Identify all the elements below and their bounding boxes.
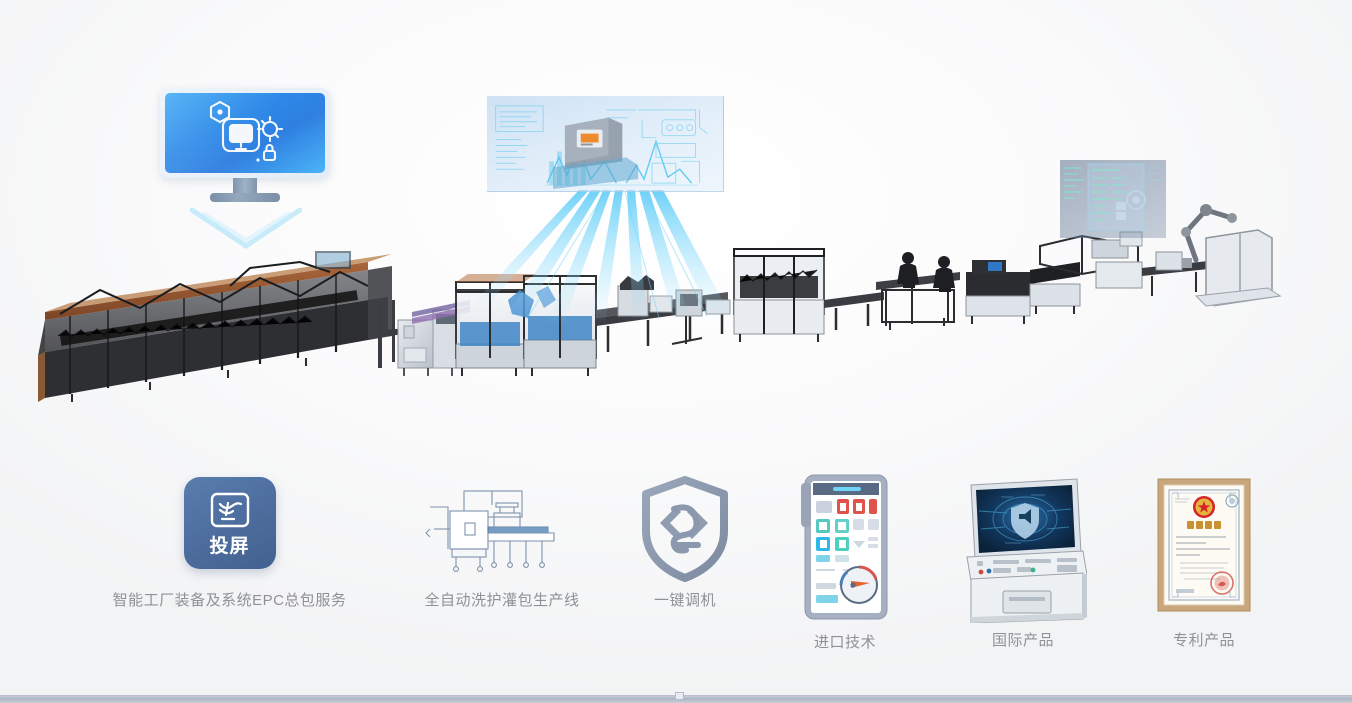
tablet-art — [795, 473, 895, 623]
monitor-bezel — [160, 88, 330, 178]
hero-scene — [0, 0, 1352, 440]
tile-label: 投屏 — [209, 537, 249, 556]
projected-dashboard — [487, 96, 724, 192]
card-production-line[interactable]: 全自动洗护灌包生产线 — [408, 485, 596, 610]
card-label: 一键调机 — [620, 589, 750, 610]
card-patent-product[interactable]: 专利产品 — [1140, 473, 1268, 650]
hud-contents — [1060, 160, 1166, 238]
line-drawing-machine-art — [422, 485, 582, 577]
monitor-screen — [165, 93, 325, 173]
screen-cast-tile-art: 投屏 — [184, 477, 276, 569]
tablet-dashboard-icon — [795, 473, 895, 623]
screen-mirror-monitor — [160, 88, 330, 218]
card-label: 进口技术 — [780, 631, 910, 652]
production-line-sketch-icon — [422, 485, 582, 577]
screen-cast-tile: 投屏 — [184, 477, 276, 569]
card-label: 智能工厂装备及系统EPC总包服务 — [102, 589, 357, 610]
window-bottom-notch — [675, 692, 684, 699]
monitor-cast-glow — [190, 208, 302, 250]
production-data-hud — [1060, 160, 1166, 238]
monitor-screen-icons — [165, 93, 325, 173]
control-console-icon — [959, 473, 1087, 623]
certificate-art — [1154, 473, 1254, 623]
patent-certificate-icon — [1154, 473, 1254, 623]
screen-cast-icon — [206, 491, 254, 535]
card-imported-technology[interactable]: 进口技术 — [780, 473, 910, 652]
card-international-product[interactable]: 国际产品 — [958, 473, 1088, 650]
card-label: 国际产品 — [958, 629, 1088, 650]
card-one-key-tuning[interactable]: 一键调机 — [620, 475, 750, 610]
shield-wrench-icon — [636, 475, 734, 583]
hologram-plate — [487, 96, 724, 192]
hud-plate — [1060, 160, 1166, 238]
feature-card-row: 投屏 智能工厂装备及系统EPC总包服务 — [0, 455, 1352, 685]
monitor-base — [210, 193, 280, 202]
card-label: 全自动洗护灌包生产线 — [408, 589, 596, 610]
console-art — [959, 473, 1087, 623]
card-label: 专利产品 — [1140, 629, 1268, 650]
card-epc-service[interactable]: 投屏 智能工厂装备及系统EPC总包服务 — [102, 477, 357, 610]
shield-art — [636, 475, 734, 583]
hologram-contents — [487, 96, 723, 191]
projection-beam — [455, 188, 765, 328]
